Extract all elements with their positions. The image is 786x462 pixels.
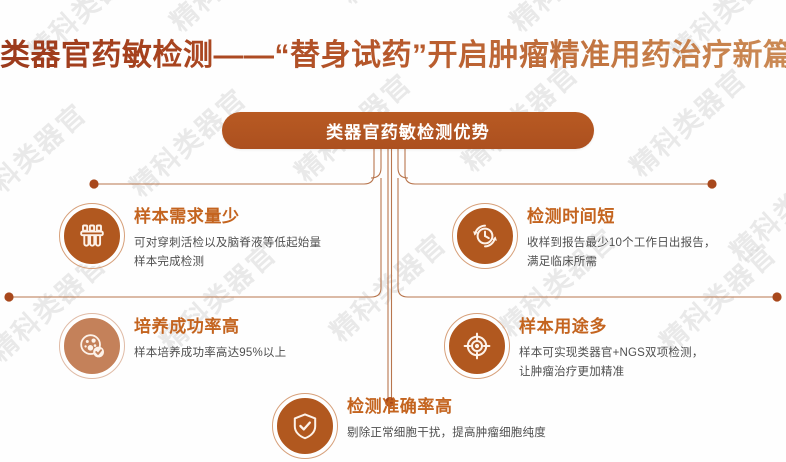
feature-description: 收样到报告最少10个工作日出报告， 满足临床所需 [527,234,716,272]
feature-text-block: 检测时间短 收样到报告最少10个工作日出报告， 满足临床所需 [527,206,716,271]
feature-description: 剔除正常细胞干扰，提高肿瘤细胞纯度 [347,424,546,443]
feature-description: 样本可实现类器官+NGS双项检测， 让肿瘤治疗更加精准 [519,344,704,382]
connector-dot [4,292,13,301]
feature-heading: 培养成功率高 [134,317,286,337]
center-badge-label: 类器官药敏检测优势 [326,118,490,143]
feature-heading: 样本用途多 [519,317,704,337]
target-crosshair-icon [447,316,507,376]
infographic-canvas: 精科类器官 精科类器官 精科类器官 精科类器官 精科类器官 精科类器官 精科类器… [0,0,786,462]
feature-text-block: 培养成功率高 样本培养成功率高达95%以上 [134,316,286,363]
cell-culture-check-icon [62,316,122,376]
feature-text-block: 样本需求量少 可对穿刺活检以及脑脊液等低起始量 样本完成检测 [134,206,321,271]
center-badge: 类器官药敏检测优势 [222,112,594,149]
connector-dot [707,179,716,188]
feature-sample-demand: 样本需求量少 可对穿刺活检以及脑脊液等低起始量 样本完成检测 [62,206,321,271]
feature-heading: 样本需求量少 [134,207,321,227]
feature-culture-success: 培养成功率高 样本培养成功率高达95%以上 [62,316,286,376]
connector-dot [89,179,98,188]
page-title: 类器官药敏检测——“替身试药”开启肿瘤精准用药治疗新篇章 [0,30,786,74]
feature-text-block: 检测准确率高 剔除正常细胞干扰，提高肿瘤细胞纯度 [347,396,546,443]
connector-dot [772,292,781,301]
shield-check-icon [275,396,335,456]
feature-accuracy: 检测准确率高 剔除正常细胞干扰，提高肿瘤细胞纯度 [275,396,546,456]
feature-description: 可对穿刺活检以及脑脊液等低起始量 样本完成检测 [134,234,321,272]
test-tube-rack-icon [62,206,122,266]
feature-heading: 检测时间短 [527,207,716,227]
feature-description: 样本培养成功率高达95%以上 [134,344,286,363]
feature-sample-usage: 样本用途多 样本可实现类器官+NGS双项检测， 让肿瘤治疗更加精准 [447,316,704,381]
clock-refresh-icon [455,206,515,266]
feature-turnaround-time: 检测时间短 收样到报告最少10个工作日出报告， 满足临床所需 [455,206,716,271]
feature-heading: 检测准确率高 [347,397,546,417]
feature-text-block: 样本用途多 样本可实现类器官+NGS双项检测， 让肿瘤治疗更加精准 [519,316,704,381]
